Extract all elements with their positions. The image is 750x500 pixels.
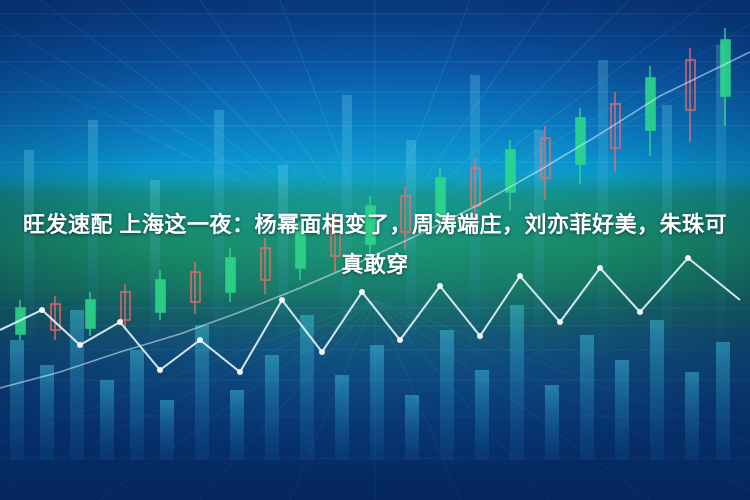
headline-text: 旺发速配 上海这一夜：杨幂面相变了，周涛端庄，刘亦菲好美，朱珠可真敢穿: [23, 212, 727, 277]
headline: 旺发速配 上海这一夜：杨幂面相变了，周涛端庄，刘亦菲好美，朱珠可真敢穿: [0, 205, 750, 285]
volume-bars: [10, 305, 730, 460]
banner-image: 旺发速配 上海这一夜：杨幂面相变了，周涛端庄，刘亦菲好美，朱珠可真敢穿: [0, 0, 750, 500]
